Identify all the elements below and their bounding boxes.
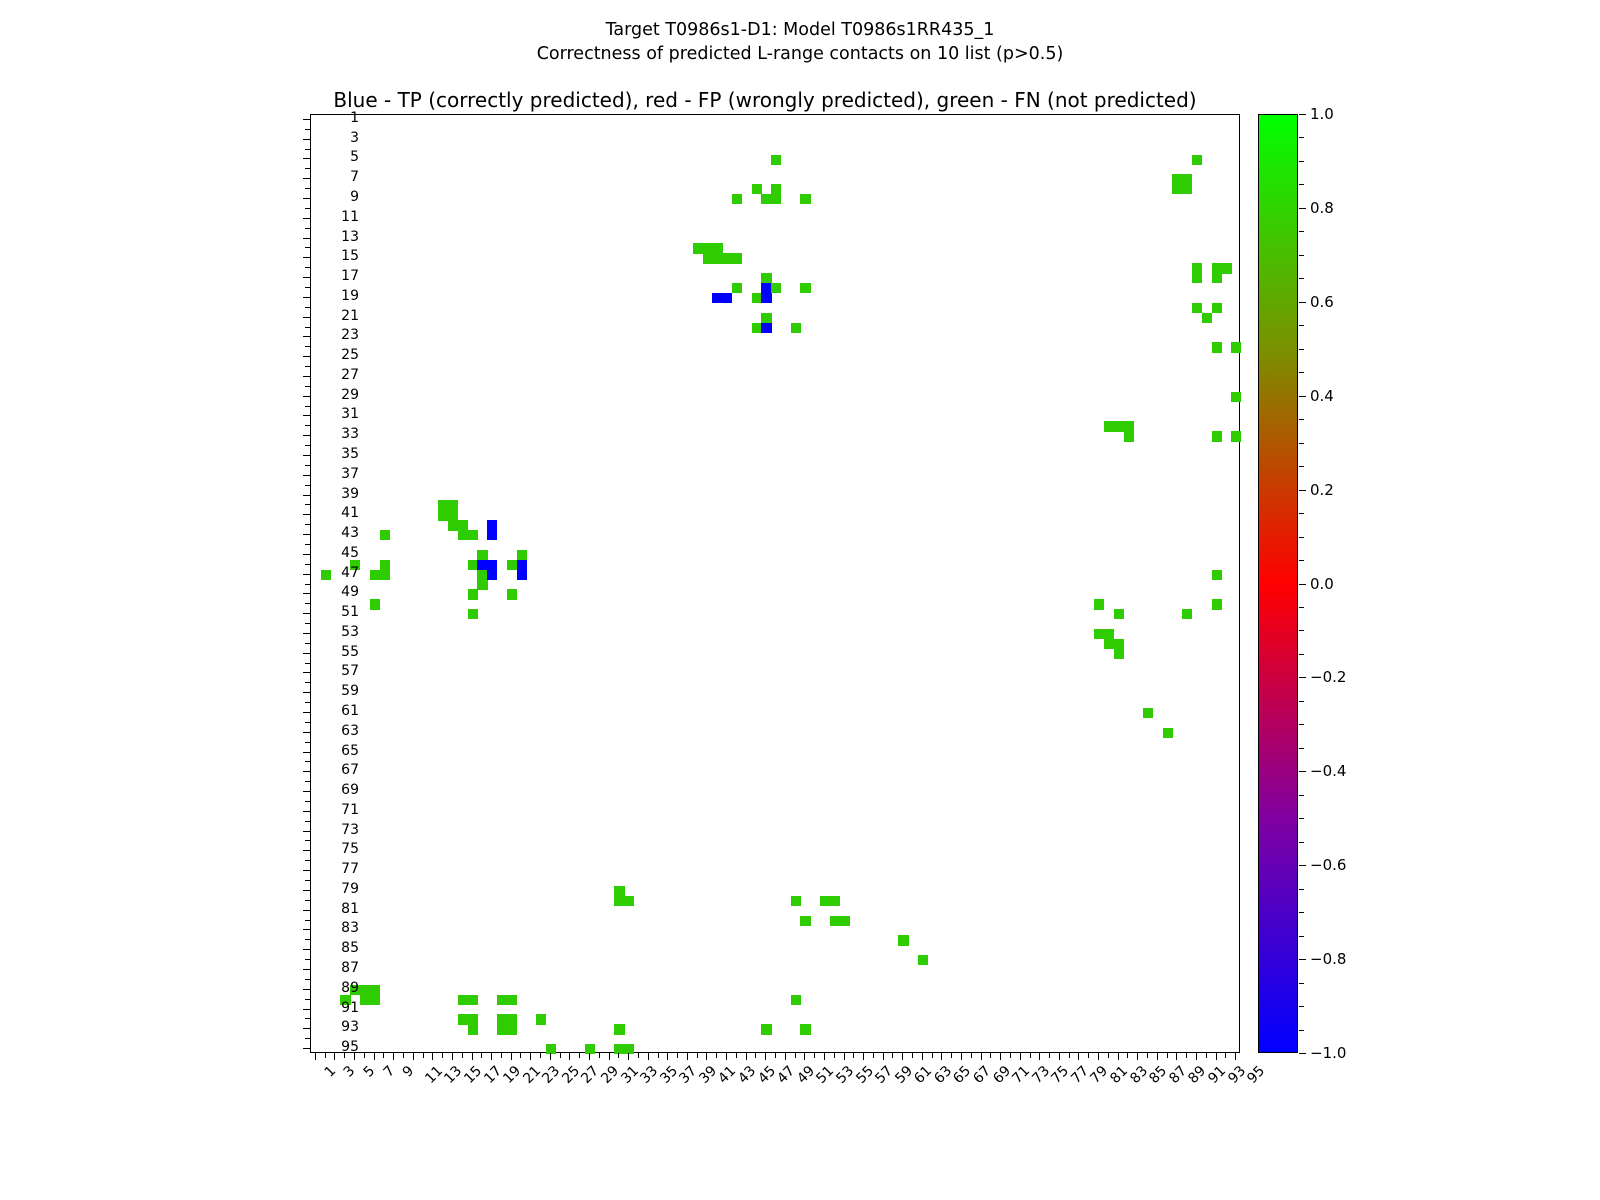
heatmap-cell-tp	[517, 560, 527, 570]
y-axis-tick-label: 83	[299, 923, 359, 933]
y-tick-mark	[305, 445, 310, 446]
colorbar-tick-mark	[1299, 325, 1304, 326]
heatmap-cell-fn	[360, 985, 370, 995]
colorbar-tick-mark	[1299, 795, 1304, 796]
heatmap-cell-fn	[712, 243, 722, 253]
colorbar-tick-mark	[1299, 490, 1306, 491]
colorbar-tick-mark	[1299, 1006, 1304, 1007]
heatmap-cell-fn	[771, 283, 781, 293]
x-tick-mark	[726, 1053, 727, 1060]
x-tick-mark	[1059, 1053, 1060, 1060]
x-tick-mark	[315, 1053, 316, 1060]
heatmap-cell-fn	[752, 184, 762, 194]
y-tick-mark	[305, 465, 310, 466]
figure-title-line2: Correctness of predicted L-range contact…	[0, 42, 1600, 66]
colorbar-tick-mark	[1299, 231, 1304, 232]
heatmap-cell-fn	[800, 283, 810, 293]
x-tick-mark	[520, 1053, 521, 1058]
heatmap-cell-fn	[761, 273, 771, 283]
x-tick-mark	[1127, 1053, 1128, 1058]
heatmap-cell-fn	[380, 560, 390, 570]
heatmap-cell-fn	[468, 609, 478, 619]
x-tick-mark	[334, 1053, 335, 1060]
heatmap-cell-fn	[448, 520, 458, 530]
x-tick-mark	[1176, 1053, 1177, 1060]
y-tick-mark	[305, 959, 310, 960]
y-axis-tick-label: 5	[299, 152, 359, 162]
y-tick-mark	[305, 386, 310, 387]
x-tick-mark	[599, 1053, 600, 1058]
x-tick-mark	[1186, 1053, 1187, 1058]
colorbar-tick-label: 0.8	[1310, 199, 1334, 217]
heatmap-cell-fn	[1231, 392, 1241, 402]
y-axis-tick-label: 65	[299, 746, 359, 756]
heatmap-cell-fn	[1114, 649, 1124, 659]
y-axis-tick-label: 39	[299, 489, 359, 499]
heatmap-cell-fn	[1221, 263, 1231, 273]
colorbar-tick-mark	[1299, 936, 1304, 937]
heatmap-cell-tp	[487, 570, 497, 580]
y-tick-mark	[305, 761, 310, 762]
heatmap-cell-fn	[507, 589, 517, 599]
y-tick-mark	[305, 188, 310, 189]
heatmap-cell-fn	[898, 935, 908, 945]
heatmap-cell-tp	[761, 293, 771, 303]
y-axis-tick-label: 17	[299, 271, 359, 281]
y-axis-tick-label: 59	[299, 686, 359, 696]
x-tick-mark	[981, 1053, 982, 1060]
x-tick-mark	[1020, 1053, 1021, 1060]
colorbar-tick-label: −1.0	[1310, 1044, 1346, 1062]
x-tick-mark	[579, 1053, 580, 1058]
y-tick-mark	[305, 939, 310, 940]
heatmap-cell-fn	[752, 323, 762, 333]
heatmap-cells	[311, 115, 1239, 1052]
heatmap-cell-fn	[458, 1014, 468, 1024]
colorbar-tick-mark	[1299, 372, 1304, 373]
heatmap-cell-fn	[752, 293, 762, 303]
x-tick-mark	[932, 1053, 933, 1058]
colorbar-tick-mark	[1299, 208, 1306, 209]
figure-title-line1: Target T0986s1-D1: Model T0986s1RR435_1	[0, 18, 1600, 42]
x-tick-mark	[716, 1053, 717, 1058]
heatmap-cell-fn	[1212, 273, 1222, 283]
y-axis-tick-label: 87	[299, 963, 359, 973]
y-tick-mark	[305, 1038, 310, 1039]
colorbar-tick-mark	[1299, 137, 1304, 138]
y-axis-tick-label: 55	[299, 647, 359, 657]
heatmap-cell-fn	[468, 995, 478, 1005]
x-tick-mark	[990, 1053, 991, 1058]
heatmap-cell-fn	[703, 253, 713, 263]
x-axis-tick-label: 9	[400, 1063, 418, 1081]
y-tick-mark	[305, 149, 310, 150]
heatmap-cell-fn	[1182, 174, 1192, 184]
y-axis-tick-label: 41	[299, 508, 359, 518]
y-axis-tick-label: 31	[299, 409, 359, 419]
heatmap-cell-fn	[370, 570, 380, 580]
heatmap-cell-tp	[487, 530, 497, 540]
figure-title: Target T0986s1-D1: Model T0986s1RR435_1 …	[0, 18, 1600, 66]
x-tick-mark	[834, 1053, 835, 1058]
colorbar-tick-mark	[1299, 537, 1304, 538]
heatmap-cell-fn	[693, 243, 703, 253]
x-axis-tick-label: 3	[341, 1063, 359, 1081]
x-tick-mark	[1039, 1053, 1040, 1060]
x-tick-mark	[560, 1053, 561, 1058]
heatmap-cell-fn	[1212, 431, 1222, 441]
heatmap-cell-fn	[380, 570, 390, 580]
heatmap-cell-fn	[1124, 421, 1134, 431]
y-axis-tick-label: 51	[299, 607, 359, 617]
x-tick-mark	[491, 1053, 492, 1060]
heatmap-cell-fn	[468, 1014, 478, 1024]
y-axis-tick-label: 79	[299, 884, 359, 894]
x-tick-mark	[951, 1053, 952, 1058]
y-axis-tick-label: 85	[299, 943, 359, 953]
heatmap-cell-fn	[468, 1024, 478, 1034]
y-axis-tick-label: 11	[299, 212, 359, 222]
colorbar-gradient	[1258, 114, 1298, 1053]
heatmap-cell-fn	[800, 916, 810, 926]
y-tick-mark	[305, 999, 310, 1000]
x-tick-mark	[863, 1053, 864, 1060]
colorbar-tick-mark	[1299, 748, 1304, 749]
colorbar-tick-mark	[1299, 466, 1304, 467]
colorbar-tick-mark	[1299, 302, 1306, 303]
heatmap-cell-fn	[1094, 629, 1104, 639]
y-axis-tick-label: 29	[299, 390, 359, 400]
colorbar-tick-mark	[1299, 161, 1304, 162]
colorbar-tick-label: 0.2	[1310, 481, 1334, 499]
y-tick-mark	[305, 821, 310, 822]
x-tick-mark	[432, 1053, 433, 1060]
y-axis-tick-label: 23	[299, 330, 359, 340]
x-tick-mark	[638, 1053, 639, 1058]
contact-map-figure: Target T0986s1-D1: Model T0986s1RR435_1 …	[0, 0, 1600, 1200]
heatmap-cell-fn	[370, 985, 380, 995]
colorbar-tick-mark	[1299, 513, 1304, 514]
y-tick-mark	[305, 643, 310, 644]
x-axis-tick-label: 5	[361, 1063, 379, 1081]
heatmap-cell-fn	[761, 313, 771, 323]
heatmap-cell-fn	[1114, 609, 1124, 619]
y-tick-mark	[305, 366, 310, 367]
heatmap-cell-fn	[800, 1024, 810, 1034]
x-tick-mark	[540, 1053, 541, 1058]
heatmap-cell-tp	[761, 323, 771, 333]
x-tick-mark	[883, 1053, 884, 1060]
colorbar-tick-mark	[1299, 701, 1304, 702]
x-tick-mark	[706, 1053, 707, 1060]
heatmap-cell-fn	[761, 1024, 771, 1034]
x-tick-mark	[814, 1053, 815, 1058]
x-tick-mark	[1078, 1053, 1079, 1060]
colorbar-tick-mark	[1299, 842, 1304, 843]
colorbar-tick-mark	[1299, 654, 1304, 655]
heatmap-cell-fn	[1104, 421, 1114, 431]
y-tick-mark	[305, 663, 310, 664]
heatmap-cell-fn	[1182, 609, 1192, 619]
x-tick-mark	[755, 1053, 756, 1058]
colorbar-tick-mark	[1299, 396, 1306, 397]
x-tick-mark	[413, 1053, 414, 1060]
y-axis-tick-label: 57	[299, 666, 359, 676]
x-axis-tick-label: 95	[1244, 1063, 1268, 1087]
heatmap-cell-tp	[517, 570, 527, 580]
y-axis-tick-label: 35	[299, 449, 359, 459]
heatmap-cell-fn	[477, 550, 487, 560]
x-tick-mark	[1098, 1053, 1099, 1060]
x-tick-mark	[511, 1053, 512, 1060]
x-tick-mark	[775, 1053, 776, 1058]
heatmap-cell-fn	[458, 995, 468, 1005]
y-tick-mark	[305, 900, 310, 901]
x-tick-mark	[961, 1053, 962, 1060]
plot-area	[310, 114, 1240, 1053]
colorbar-tick-mark	[1299, 1053, 1306, 1054]
heatmap-cell-fn	[1143, 708, 1153, 718]
heatmap-cell-fn	[624, 1044, 634, 1054]
y-tick-mark	[305, 801, 310, 802]
heatmap-cell-fn	[1163, 728, 1173, 738]
heatmap-cell-fn	[497, 1024, 507, 1034]
x-tick-mark	[1147, 1053, 1148, 1058]
heatmap-cell-fn	[1114, 421, 1124, 431]
heatmap-cell-fn	[448, 500, 458, 510]
heatmap-cell-fn	[1231, 431, 1241, 441]
colorbar-tick-mark	[1299, 959, 1306, 960]
heatmap-cell-tp	[722, 293, 732, 303]
x-tick-mark	[1216, 1053, 1217, 1060]
y-axis-tick-label: 63	[299, 726, 359, 736]
heatmap-cell-fn	[507, 560, 517, 570]
heatmap-cell-fn	[1182, 184, 1192, 194]
heatmap-cell-fn	[1212, 303, 1222, 313]
heatmap-cell-fn	[732, 194, 742, 204]
colorbar-tick-mark	[1299, 560, 1304, 561]
x-tick-mark	[677, 1053, 678, 1058]
y-axis-tick-label: 49	[299, 587, 359, 597]
colorbar-tick-mark	[1299, 584, 1306, 585]
y-axis-tick-label: 69	[299, 785, 359, 795]
x-tick-mark	[1235, 1053, 1236, 1060]
heatmap-cell-fn	[546, 1044, 556, 1054]
x-tick-mark	[1157, 1053, 1158, 1060]
x-tick-mark	[364, 1053, 365, 1058]
colorbar-tick-mark	[1299, 419, 1304, 420]
x-tick-mark	[648, 1053, 649, 1060]
x-tick-mark	[442, 1053, 443, 1058]
heatmap-cell-fn	[1212, 599, 1222, 609]
heatmap-cell-fn	[771, 194, 781, 204]
x-tick-mark	[550, 1053, 551, 1060]
x-tick-mark	[1069, 1053, 1070, 1058]
heatmap-cell-fn	[771, 184, 781, 194]
heatmap-cell-fn	[507, 1024, 517, 1034]
heatmap-cell-fn	[722, 253, 732, 263]
heatmap-cell-fn	[1114, 639, 1124, 649]
y-tick-mark	[305, 208, 310, 209]
heatmap-cell-fn	[771, 155, 781, 165]
y-tick-mark	[305, 485, 310, 486]
heatmap-cell-fn	[624, 896, 634, 906]
heatmap-cell-tp	[477, 560, 487, 570]
x-tick-mark	[462, 1053, 463, 1058]
colorbar-tick-mark	[1299, 771, 1306, 772]
colorbar-tick-mark	[1299, 983, 1304, 984]
x-tick-mark	[1118, 1053, 1119, 1060]
y-axis-tick-label: 19	[299, 291, 359, 301]
y-tick-mark	[305, 840, 310, 841]
y-tick-mark	[305, 406, 310, 407]
y-axis-tick-label: 53	[299, 627, 359, 637]
x-tick-mark	[1225, 1053, 1226, 1058]
x-tick-mark	[795, 1053, 796, 1058]
colorbar-tick-label: 1.0	[1310, 105, 1334, 123]
heatmap-cell-fn	[1104, 639, 1114, 649]
y-tick-mark	[305, 228, 310, 229]
y-tick-mark	[305, 860, 310, 861]
y-tick-mark	[305, 168, 310, 169]
y-axis-tick-label: 27	[299, 370, 359, 380]
y-tick-mark	[305, 129, 310, 130]
x-tick-mark	[374, 1053, 375, 1060]
y-axis-tick-label: 71	[299, 805, 359, 815]
heatmap-cell-fn	[703, 243, 713, 253]
x-tick-mark	[873, 1053, 874, 1058]
y-tick-mark	[305, 584, 310, 585]
y-axis-tick-label: 37	[299, 469, 359, 479]
heatmap-cell-fn	[1104, 629, 1114, 639]
heatmap-cell-fn	[370, 599, 380, 609]
colorbar-tick-mark	[1299, 724, 1304, 725]
x-tick-mark	[785, 1053, 786, 1060]
x-tick-mark	[609, 1053, 610, 1060]
y-tick-mark	[305, 287, 310, 288]
x-tick-mark	[658, 1053, 659, 1058]
colorbar-tick-label: 0.4	[1310, 387, 1334, 405]
y-axis-tick-label: 75	[299, 844, 359, 854]
colorbar-tick-mark	[1299, 443, 1304, 444]
colorbar-tick-label: 0.0	[1310, 575, 1334, 593]
y-tick-mark	[305, 1018, 310, 1019]
x-tick-mark	[1137, 1053, 1138, 1060]
legend-description: Blue - TP (correctly predicted), red - F…	[0, 88, 1530, 112]
y-axis-tick-label: 95	[299, 1042, 359, 1052]
y-axis-tick-label: 43	[299, 528, 359, 538]
heatmap-cell-fn	[732, 283, 742, 293]
heatmap-cell-fn	[1124, 431, 1134, 441]
heatmap-cell-fn	[380, 530, 390, 540]
y-tick-mark	[305, 623, 310, 624]
heatmap-cell-fn	[1192, 273, 1202, 283]
y-axis-tick-label: 47	[299, 568, 359, 578]
x-tick-mark	[569, 1053, 570, 1060]
x-tick-mark	[1167, 1053, 1168, 1058]
x-tick-mark	[325, 1053, 326, 1058]
colorbar-tick-mark	[1299, 1030, 1304, 1031]
heatmap-cell-fn	[438, 510, 448, 520]
colorbar-tick-mark	[1299, 818, 1304, 819]
heatmap-cell-fn	[458, 530, 468, 540]
colorbar-tick-mark	[1299, 278, 1304, 279]
y-axis-tick-label: 3	[299, 133, 359, 143]
y-tick-mark	[305, 327, 310, 328]
heatmap-cell-fn	[1192, 263, 1202, 273]
heatmap-cell-fn	[800, 194, 810, 204]
heatmap-cell-fn	[1212, 342, 1222, 352]
y-tick-mark	[305, 564, 310, 565]
heatmap-cell-fn	[468, 560, 478, 570]
colorbar-tick-label: 0.6	[1310, 293, 1334, 311]
x-axis-tick-label: 1	[322, 1063, 340, 1081]
heatmap-cell-fn	[830, 916, 840, 926]
x-tick-mark	[1088, 1053, 1089, 1058]
heatmap-cell-fn	[370, 995, 380, 1005]
heatmap-cell-fn	[614, 896, 624, 906]
x-tick-mark	[844, 1053, 845, 1060]
y-axis-tick-label: 21	[299, 311, 359, 321]
x-tick-mark	[628, 1053, 629, 1060]
x-tick-mark	[403, 1053, 404, 1058]
x-tick-mark	[589, 1053, 590, 1060]
heatmap-cell-fn	[468, 589, 478, 599]
x-tick-mark	[472, 1053, 473, 1060]
x-tick-mark	[667, 1053, 668, 1060]
colorbar-tick-mark	[1299, 184, 1304, 185]
heatmap-cell-fn	[468, 530, 478, 540]
colorbar-tick-mark	[1299, 865, 1306, 866]
heatmap-cell-tp	[487, 560, 497, 570]
colorbar-tick-mark	[1299, 912, 1304, 913]
heatmap-cell-fn	[438, 500, 448, 510]
x-tick-mark	[697, 1053, 698, 1058]
x-tick-mark	[804, 1053, 805, 1060]
heatmap-cell-fn	[497, 1014, 507, 1024]
colorbar-tick-label: −0.4	[1310, 762, 1346, 780]
x-tick-mark	[853, 1053, 854, 1058]
x-tick-mark	[746, 1053, 747, 1060]
x-tick-mark	[902, 1053, 903, 1060]
x-tick-mark	[1206, 1053, 1207, 1058]
heatmap-cell-fn	[1172, 184, 1182, 194]
heatmap-cell-fn	[614, 1044, 624, 1054]
y-tick-mark	[305, 247, 310, 248]
heatmap-cell-fn	[820, 896, 830, 906]
heatmap-cell-fn	[1192, 155, 1202, 165]
x-tick-mark	[530, 1053, 531, 1060]
y-axis-tick-label: 1	[299, 113, 359, 123]
y-axis-tick-label: 81	[299, 904, 359, 914]
heatmap-cell-fn	[507, 995, 517, 1005]
heatmap-cell-fn	[712, 253, 722, 263]
y-axis-tick-label: 67	[299, 765, 359, 775]
y-axis-tick-label: 93	[299, 1022, 359, 1032]
y-tick-mark	[305, 603, 310, 604]
y-tick-mark	[305, 781, 310, 782]
y-axis-tick-label: 7	[299, 172, 359, 182]
heatmap-cell-fn	[732, 253, 742, 263]
heatmap-cell-fn	[448, 510, 458, 520]
x-tick-mark	[393, 1053, 394, 1060]
y-tick-mark	[305, 682, 310, 683]
x-tick-mark	[824, 1053, 825, 1060]
heatmap-cell-tp	[487, 520, 497, 530]
colorbar-tick-mark	[1299, 607, 1304, 608]
x-tick-mark	[1030, 1053, 1031, 1058]
y-axis-tick-label: 91	[299, 1003, 359, 1013]
